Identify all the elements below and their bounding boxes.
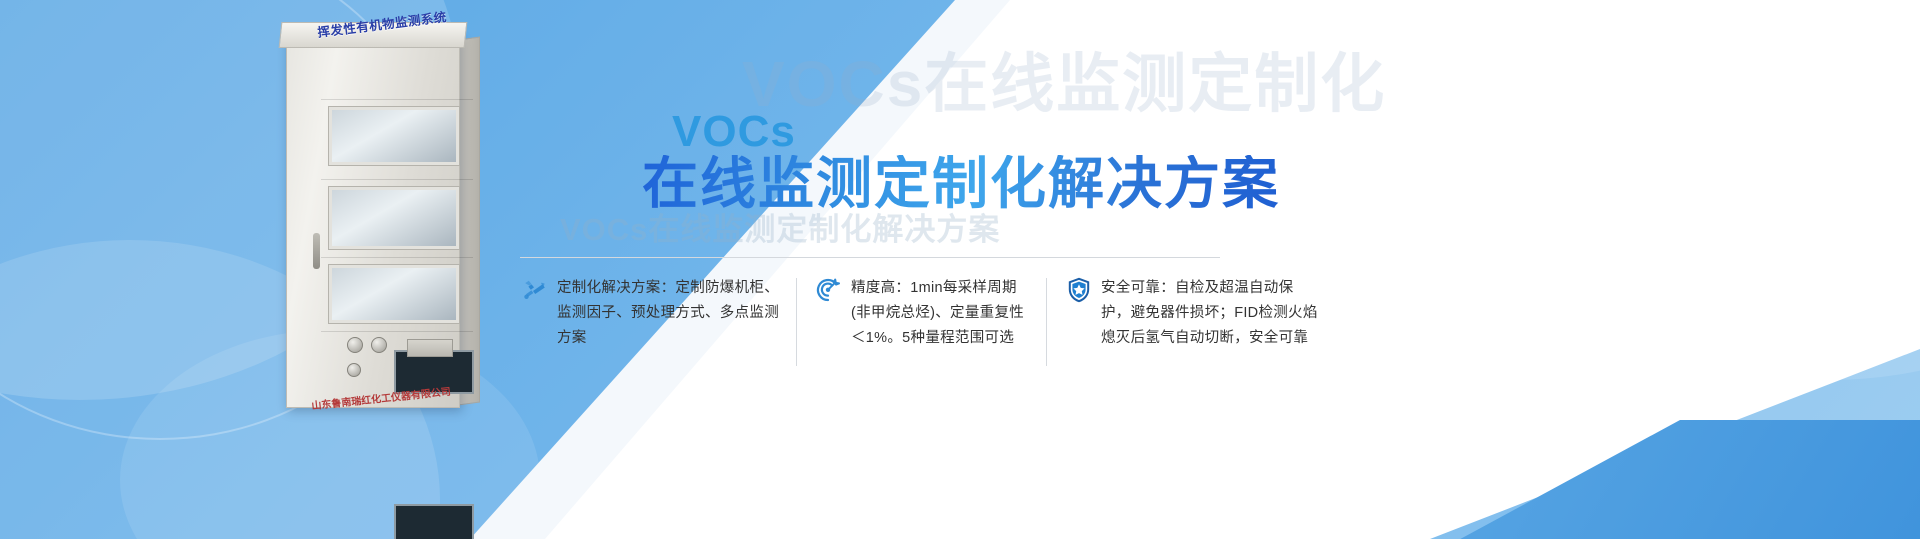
- cabinet-seam: [321, 331, 473, 332]
- cabinet-seam: [321, 99, 473, 100]
- tools-wrench-icon: [522, 277, 548, 303]
- cabinet-vent: [407, 339, 453, 357]
- cabinet-seam: [321, 257, 473, 258]
- headline-chinese: 在线监测定制化解决方案: [642, 155, 1280, 214]
- cabinet-window-lower: [329, 265, 459, 323]
- feature-text: 精度高：1min每采样周期(非甲烷总烃)、定量重复性＜1%。5种量程范围可选: [851, 276, 1030, 351]
- cabinet-window-middle: [329, 187, 459, 249]
- control-knob: [347, 337, 363, 353]
- target-accuracy-icon: [816, 277, 842, 303]
- cabinet-display-lower: [394, 504, 474, 539]
- feature-item: 精度高：1min每采样周期(非甲烷总烃)、定量重复性＜1%。5种量程范围可选: [796, 276, 1046, 351]
- headline-english: VOCs: [672, 110, 796, 154]
- feature-list: 定制化解决方案：定制防爆机柜、监测因子、预处理方式、多点监测方案 精度高：1mi…: [522, 276, 1402, 376]
- cabinet-door-handle: [313, 233, 320, 269]
- feature-item: 定制化解决方案：定制防爆机柜、监测因子、预处理方式、多点监测方案: [522, 276, 796, 351]
- feature-text: 定制化解决方案：定制防爆机柜、监测因子、预处理方式、多点监测方案: [557, 276, 780, 351]
- ghost-headline-top: VOCs在线监测定制化: [742, 52, 1386, 116]
- feature-text: 安全可靠：自检及超温自动保护，避免器件损坏；FID检测火焰熄灭后氢气自动切断，安…: [1101, 276, 1320, 351]
- equipment-cabinet-photo: 挥发性有机物监测系统 山东鲁南瑞红化工仪器有限公司: [262, 8, 498, 428]
- ghost-headline-bottom: VOCs在线监测定制化解决方案: [560, 214, 1000, 245]
- cabinet-seam: [321, 179, 473, 180]
- shield-star-icon: [1066, 277, 1092, 303]
- vocs-promo-banner: 挥发性有机物监测系统 山东鲁南瑞红化工仪器有限公司 VOCs在线监测定制化 VO…: [0, 0, 1920, 539]
- headline-english-text: VOCs: [672, 107, 796, 156]
- control-knob: [347, 363, 361, 377]
- cabinet-body: [286, 36, 460, 408]
- cabinet-window-upper: [329, 107, 459, 165]
- feature-item: 安全可靠：自检及超温自动保护，避免器件损坏；FID检测火焰熄灭后氢气自动切断，安…: [1046, 276, 1336, 351]
- control-knob: [371, 337, 387, 353]
- headline-divider: [520, 257, 1220, 258]
